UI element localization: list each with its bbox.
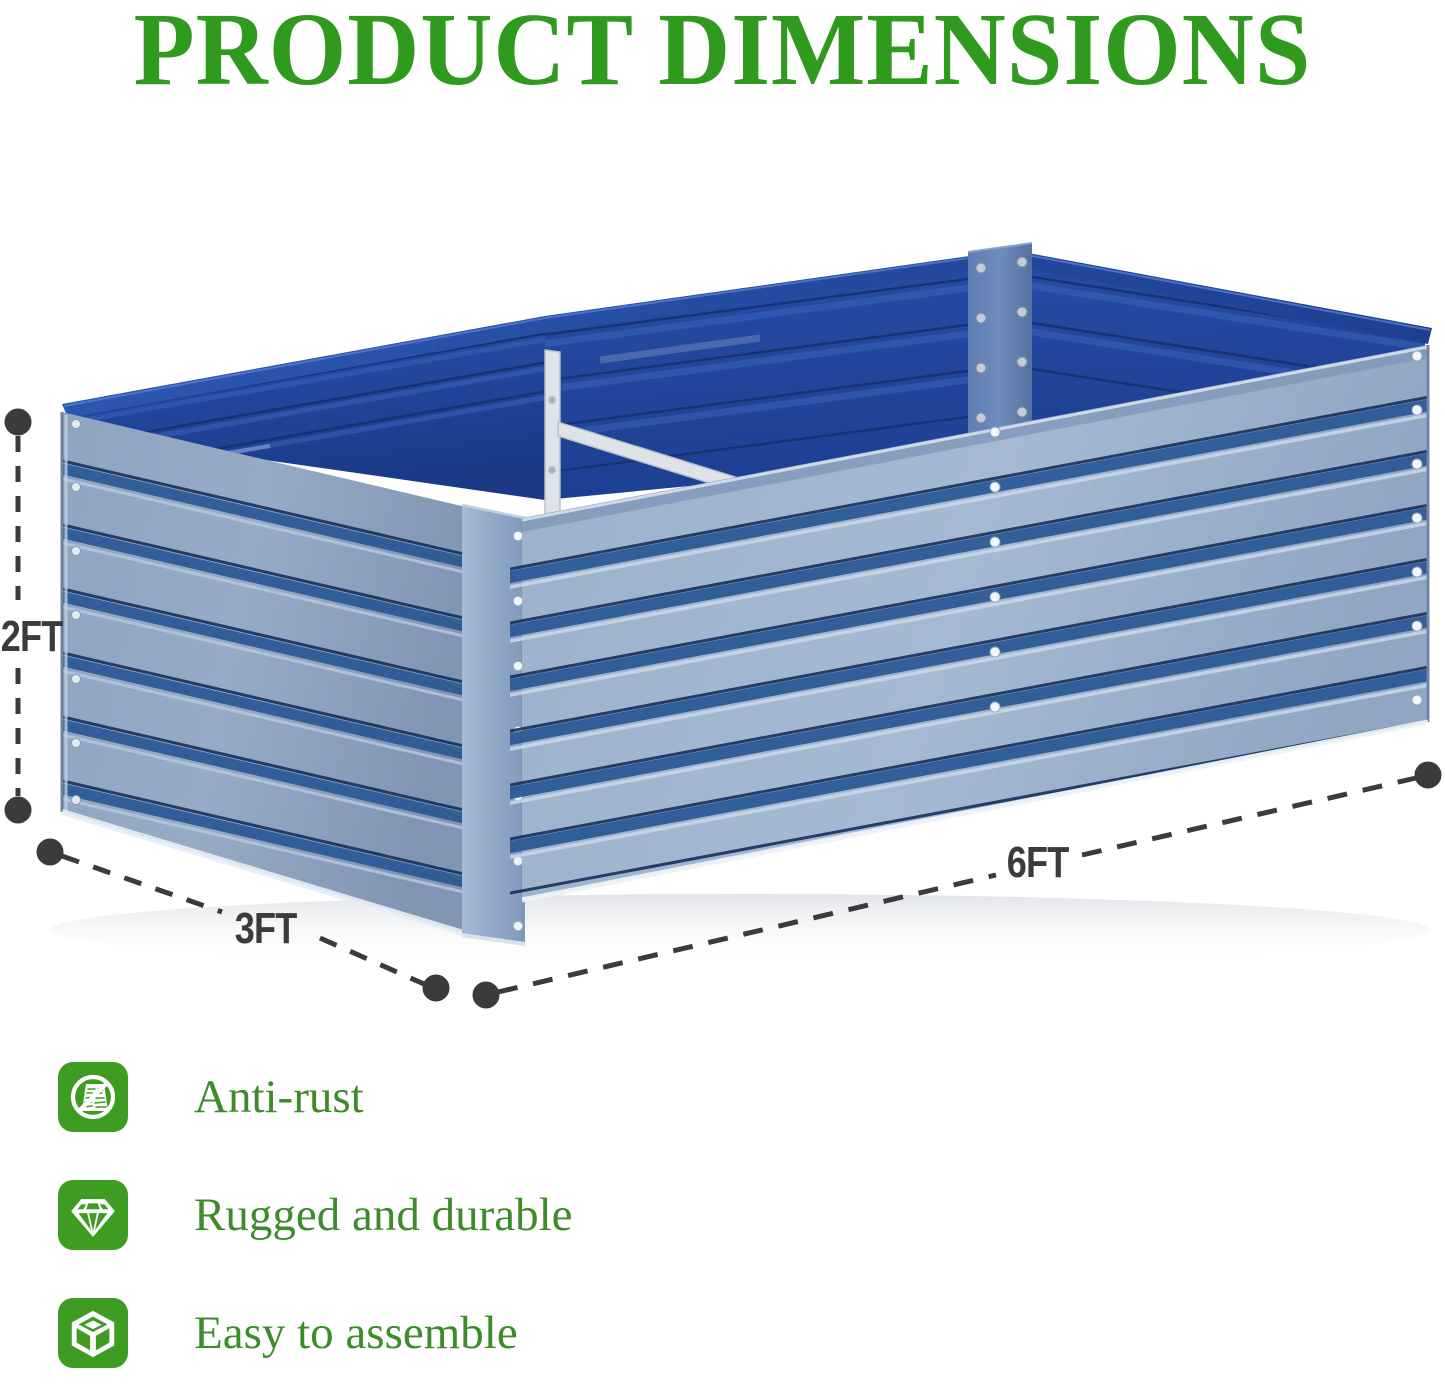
feature-item-easy-assemble: Easy to assemble [58,1274,958,1392]
feature-label-rugged-durable: Rugged and durable [194,1192,573,1239]
feature-label-anti-rust: Anti-rust [194,1074,364,1121]
diamond-icon [58,1180,128,1250]
panel-face-left [50,412,485,935]
feature-list: Anti-rust Rugged and durable [58,1038,958,1392]
dimension-label-width: 6FT [1007,838,1069,888]
dimension-label-depth: 3FT [235,904,297,954]
assembly-cube-icon [58,1298,128,1368]
anti-rust-icon [58,1062,128,1132]
feature-label-easy-assemble: Easy to assemble [194,1310,518,1357]
feature-item-rugged-durable: Rugged and durable [58,1156,958,1274]
product-illustration: 2FT 3FT 6FT [0,0,1445,1030]
dimension-label-height: 2FT [1,612,63,662]
feature-item-anti-rust: Anti-rust [58,1038,958,1156]
